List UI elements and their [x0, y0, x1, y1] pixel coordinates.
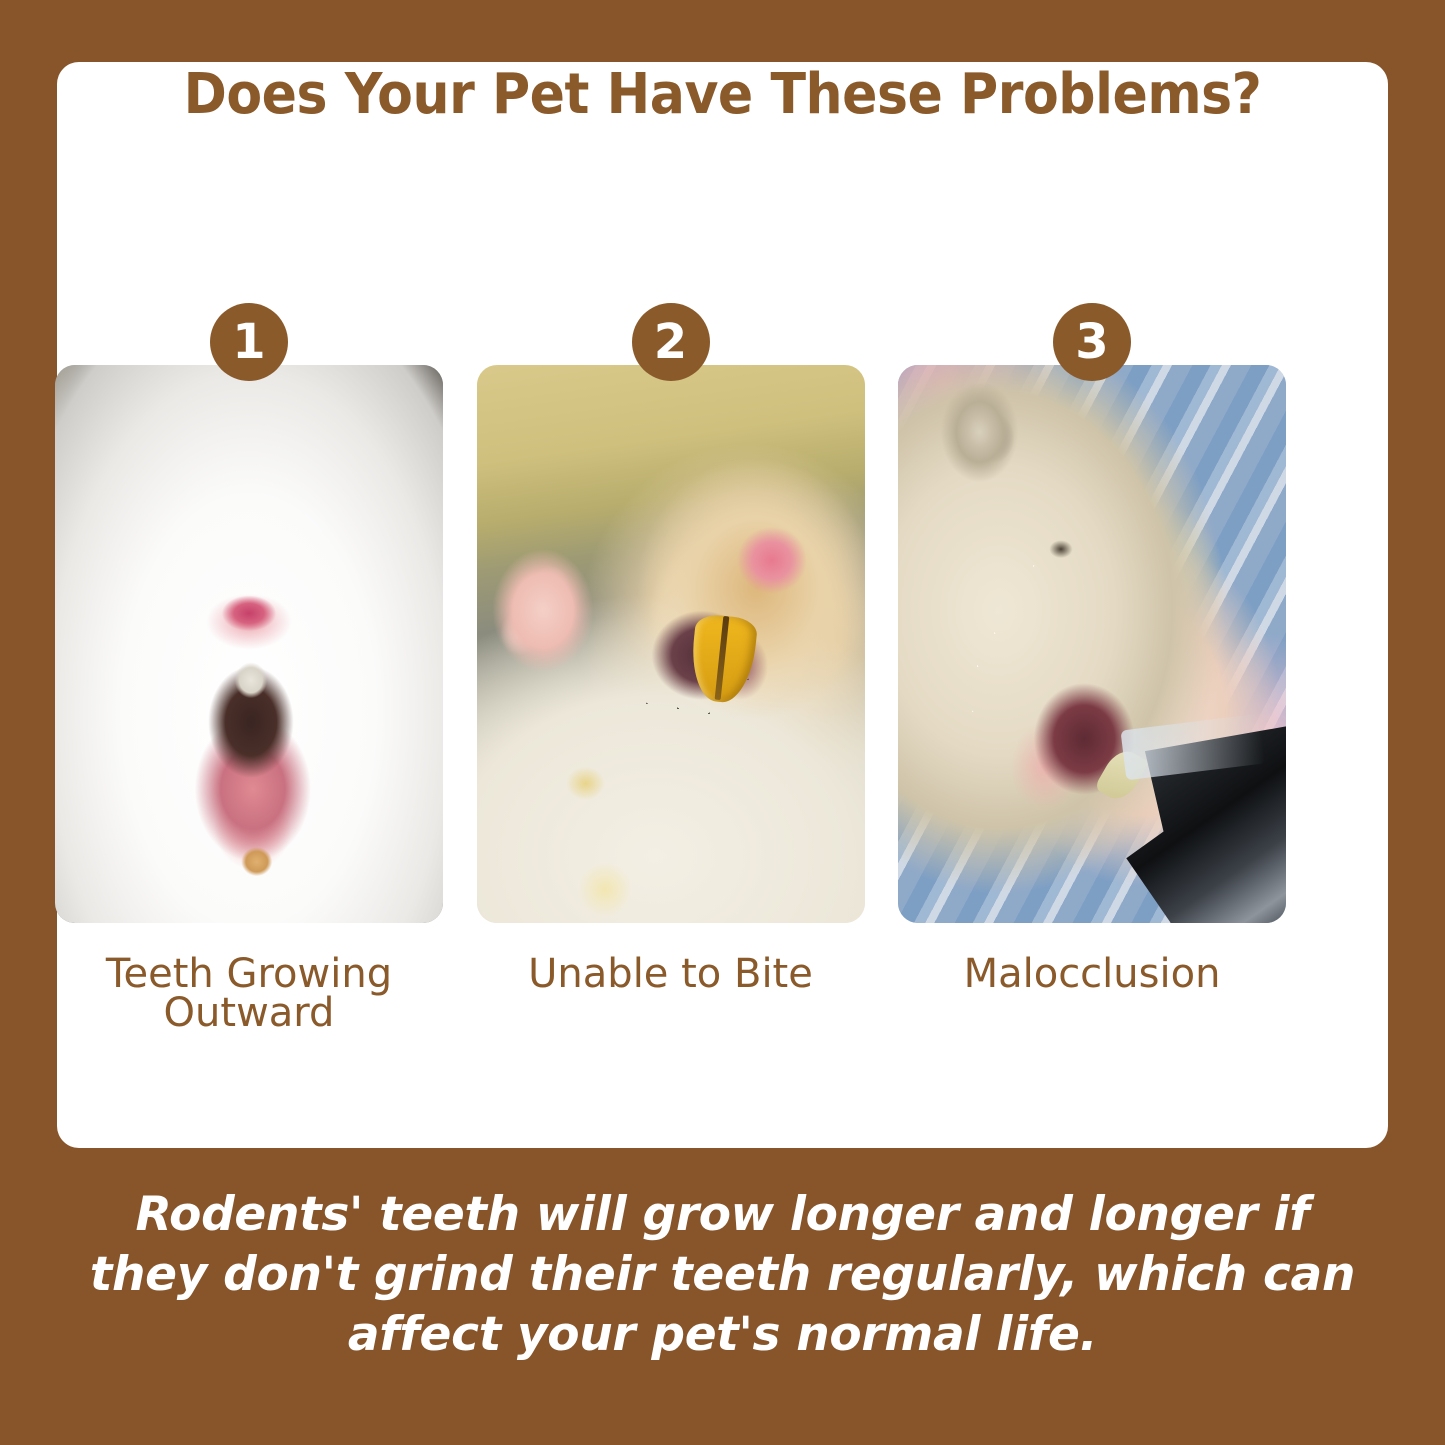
- problem-caption-2: Unable to Bite: [477, 955, 865, 994]
- photo1-teeth: [55, 365, 443, 923]
- step-number-badge-2: 2: [632, 303, 710, 381]
- problem-caption-1-line2: Outward: [55, 994, 443, 1033]
- problem-photo-2: [477, 365, 865, 923]
- problem-card-3[interactable]: 3 Malocclusion: [898, 303, 1286, 1033]
- photo2-food-crumbs: [477, 365, 865, 923]
- step-number-badge-1: 1: [210, 303, 288, 381]
- problem-photo-1: [55, 365, 443, 923]
- photo3-whiskers: [898, 365, 1286, 923]
- problem-photo-3: [898, 365, 1286, 923]
- problem-card-1[interactable]: 1 Teeth Growing Outward: [55, 303, 443, 1033]
- problem-caption-2-line1: Unable to Bite: [477, 955, 865, 994]
- problems-gallery: 1 Teeth Growing Outward 2: [55, 303, 1286, 1033]
- problem-caption-1: Teeth Growing Outward: [55, 955, 443, 1033]
- page-title: Does Your Pet Have These Problems?: [51, 62, 1395, 127]
- problem-card-2[interactable]: 2 Unable to Bite: [477, 303, 865, 1033]
- step-number-badge-3: 3: [1053, 303, 1131, 381]
- problem-caption-3-line1: Malocclusion: [898, 955, 1286, 994]
- problem-caption-3: Malocclusion: [898, 955, 1286, 994]
- problem-caption-1-line1: Teeth Growing: [55, 955, 443, 994]
- footer-note: Rodents' teeth will grow longer and long…: [73, 1185, 1373, 1365]
